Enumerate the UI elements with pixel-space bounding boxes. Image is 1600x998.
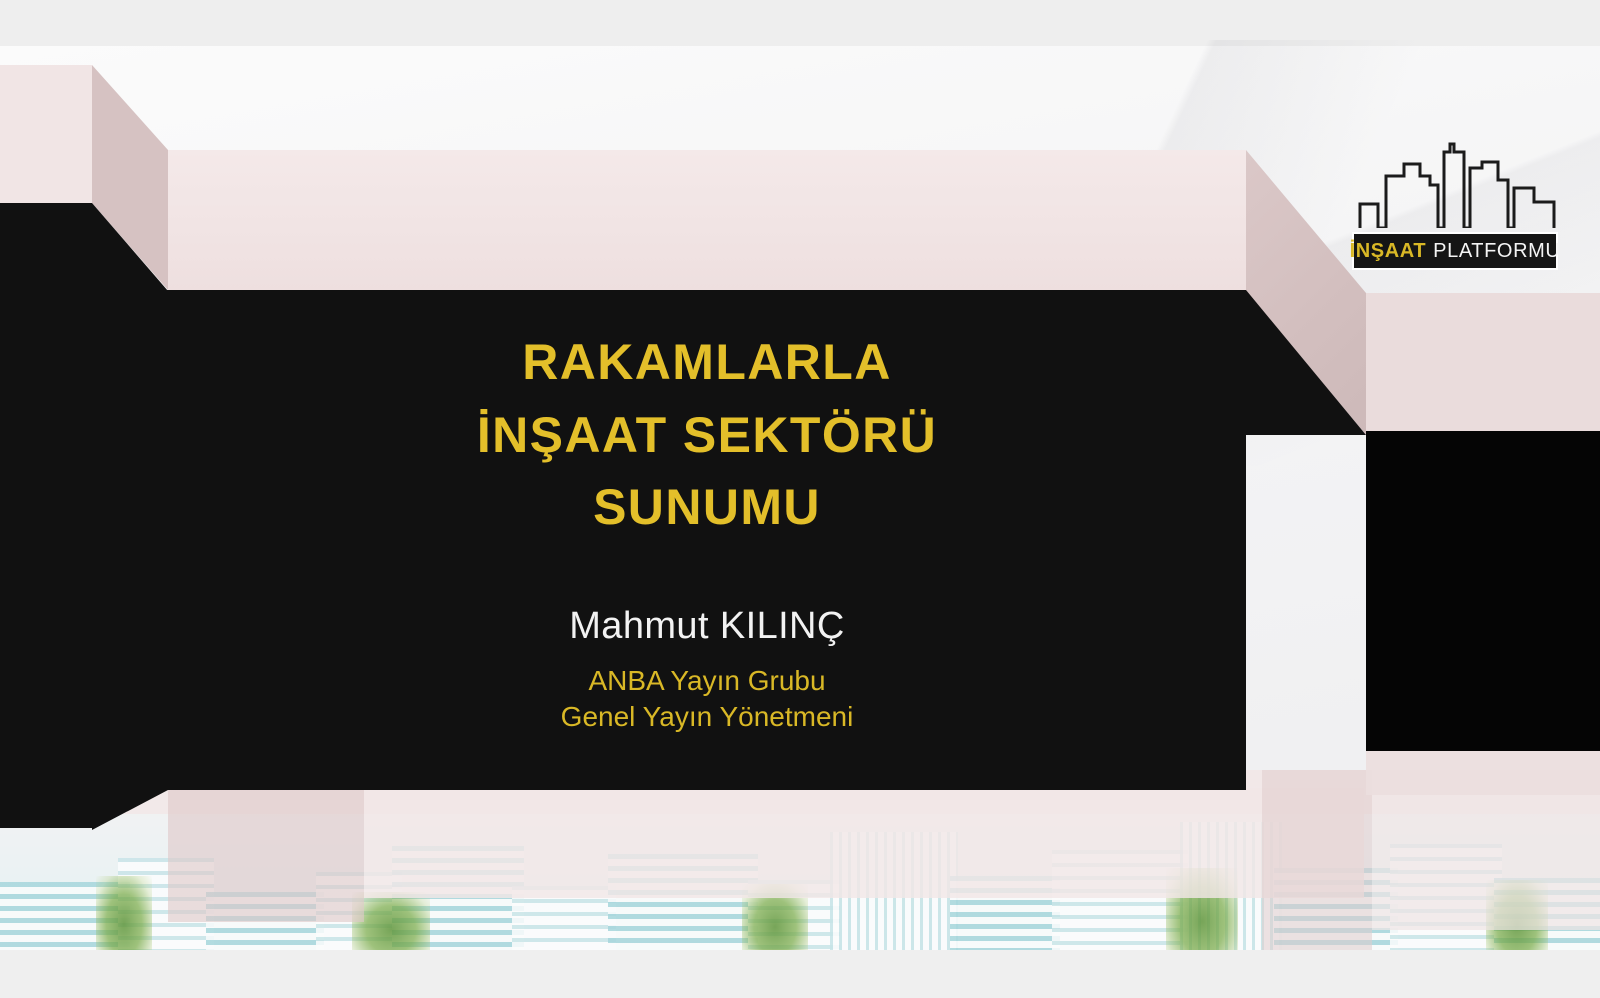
presentation-title-slide: RAKAMLARLA İNŞAAT SEKTÖRÜ SUNUMU Mahmut … bbox=[0, 0, 1600, 998]
slab-left-column-pink bbox=[0, 65, 92, 203]
cityscape-photo-band bbox=[0, 770, 1600, 950]
presenter-org-line-2: Genel Yayın Yönetmeni bbox=[561, 699, 854, 735]
slab-lower-right-pink bbox=[1366, 751, 1600, 795]
title-line-2: İNŞAAT SEKTÖRÜ bbox=[477, 399, 937, 472]
slab-top-face bbox=[168, 150, 1246, 290]
presenter-org-line-1: ANBA Yayın Grubu bbox=[561, 663, 854, 699]
slab-right-column-black bbox=[1366, 431, 1600, 751]
presenter-name: Mahmut KILINÇ bbox=[561, 606, 854, 648]
slide-text-block: RAKAMLARLA İNŞAAT SEKTÖRÜ SUNUMU Mahmut … bbox=[168, 300, 1246, 780]
backdrop-bottom-band bbox=[0, 950, 1600, 998]
title-line-1: RAKAMLARLA bbox=[477, 326, 937, 399]
brand-logo: İNŞAAT PLATFORMU bbox=[1352, 142, 1560, 270]
presenter-organisation: ANBA Yayın Grubu Genel Yayın Yönetmeni bbox=[561, 663, 854, 735]
logo-word-platformu: PLATFORMU bbox=[1433, 240, 1560, 263]
slab-left-column-black bbox=[0, 203, 92, 828]
page-title: RAKAMLARLA İNŞAAT SEKTÖRÜ SUNUMU bbox=[477, 326, 937, 544]
city-skyline-icon bbox=[1358, 142, 1558, 228]
logo-wordmark-bar: İNŞAAT PLATFORMU bbox=[1352, 232, 1558, 270]
title-line-3: SUNUMU bbox=[477, 471, 937, 544]
slab-right-column-pink bbox=[1366, 293, 1600, 433]
logo-word-insaat: İNŞAAT bbox=[1350, 240, 1427, 263]
presenter-block: Mahmut KILINÇ ANBA Yayın Grubu Genel Yay… bbox=[561, 606, 854, 735]
